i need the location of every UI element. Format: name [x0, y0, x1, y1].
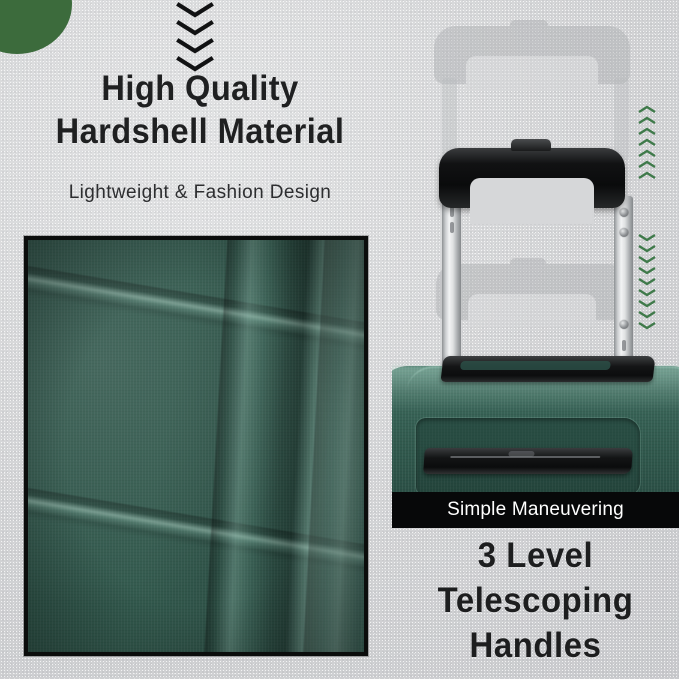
chevron-down-icon: [175, 38, 215, 55]
chevron-down-icon: [636, 298, 658, 309]
bottom-headline-line-3: Handles: [401, 624, 671, 669]
ghost-handle-level-2: [436, 264, 628, 320]
chevron-down-icon: [636, 320, 658, 331]
chevron-down-icon: [636, 276, 658, 287]
chevron-down-icon: [175, 2, 215, 19]
ghost-post-right-3: [614, 78, 629, 160]
sub-headline: Lightweight & Fashion Design: [0, 182, 400, 204]
bottom-headline: 3 Level Telescoping Handles: [392, 534, 679, 668]
chevron-up-icon: [636, 104, 658, 115]
chevron-down-icon: [175, 20, 215, 37]
handle-post-right: [614, 196, 633, 382]
chevron-group-up: [636, 104, 658, 181]
chevron-down-icon: [636, 309, 658, 320]
handle-base-plate: [423, 448, 633, 474]
chevron-down-icon: [636, 232, 658, 243]
base-plate-notch: [508, 451, 534, 457]
headline-line-1: High Quality: [14, 68, 386, 111]
ghost-handle-level-3: [434, 26, 630, 84]
bottom-headline-line-1: 3 Level: [401, 534, 671, 579]
chevron-down-icon: [636, 287, 658, 298]
chevron-up-icon: [636, 170, 658, 181]
chevron-down-icon: [636, 265, 658, 276]
chevron-up-icon: [636, 159, 658, 170]
top-carry-handle: [440, 356, 655, 382]
product-feature-graphic: High Quality Hardshell Material Lightwei…: [0, 0, 679, 679]
caption-bar: Simple Maneuvering: [392, 492, 679, 528]
chevron-down-icon: [636, 254, 658, 265]
top-chevron-group: [168, 2, 222, 73]
chevron-group-down: [636, 232, 658, 331]
headline-line-2: Hardshell Material: [14, 111, 386, 154]
chevron-up-icon: [636, 148, 658, 159]
carry-handle-gap: [460, 361, 611, 370]
main-headline: High Quality Hardshell Material: [0, 68, 400, 153]
handle-release-button: [511, 139, 551, 151]
texture-vignette: [28, 240, 364, 652]
chevron-up-icon: [636, 115, 658, 126]
chevron-up-icon: [636, 137, 658, 148]
chevron-down-icon: [636, 243, 658, 254]
chevron-up-icon: [636, 126, 658, 137]
bottom-headline-line-2: Telescoping: [401, 579, 671, 624]
caption-text: Simple Maneuvering: [447, 499, 624, 521]
handle-opening: [470, 178, 594, 224]
handle-post-left: [442, 196, 461, 382]
green-circle-decor: [0, 0, 72, 54]
hardshell-texture-photo: [24, 236, 368, 656]
telescoping-handle-grip: [439, 148, 625, 208]
